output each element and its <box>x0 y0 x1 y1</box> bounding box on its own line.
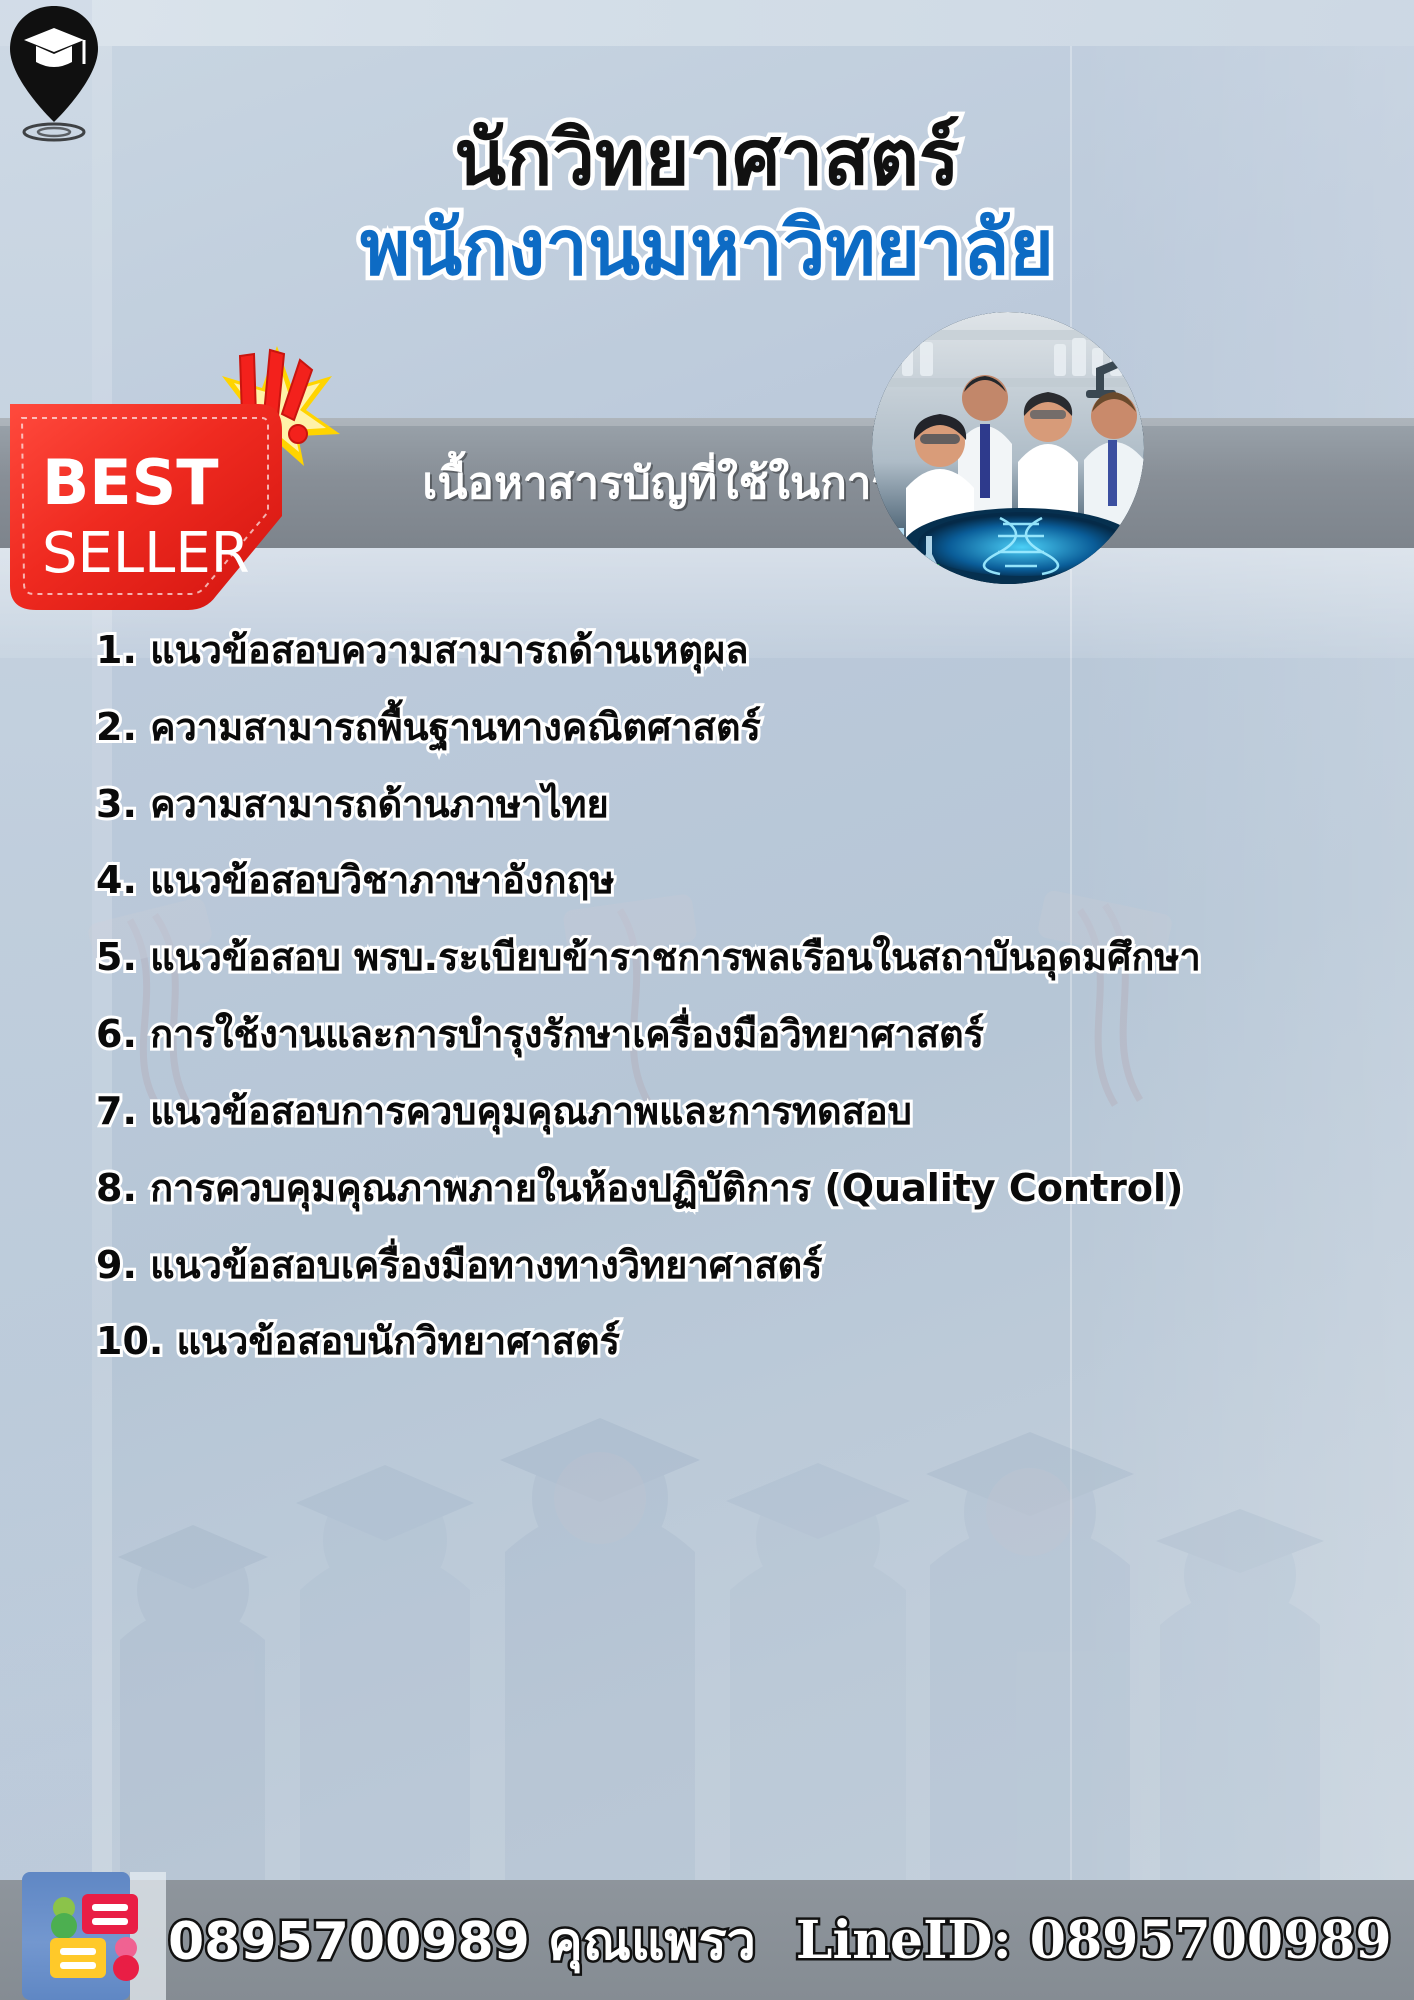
list-item: 7. แนวข้อสอบการควบคุมคุณภาพและการทดสอบ <box>96 1089 1346 1134</box>
science-lab-photo <box>872 312 1144 584</box>
list-item: 9. แนวข้อสอบเครื่องมือทางทางวิทยาศาสตร์ <box>96 1243 1346 1288</box>
list-item: 1. แนวข้อสอบความสามารถด้านเหตุผล <box>96 628 1346 673</box>
background-top-strip <box>0 0 1414 46</box>
footer-contact: 0895700989 คุณแพรว LineID: 0895700989 <box>0 1880 1414 2000</box>
poster-title-block: นักวิทยาศาสตร์ พนักงานมหาวิทยาลัย <box>0 118 1414 288</box>
list-item: 4. แนวข้อสอบวิชาภาษาอังกฤษ <box>96 858 1346 903</box>
title-line-2: พนักงานมหาวิทยาลัย <box>0 208 1414 288</box>
poster-root: นักวิทยาศาสตร์ พนักงานมหาวิทยาลัย เนื้อห… <box>0 0 1414 2000</box>
list-item: 8. การควบคุมคุณภาพภายในห้องปฏิบัติการ (Q… <box>96 1166 1346 1211</box>
footer-line-id: LineID: 0895700989 <box>796 1910 1392 1971</box>
badge-line-1: BEST <box>42 446 219 519</box>
list-item: 2. ความสามารถพื้นฐานทางคณิตศาสตร์ <box>96 705 1346 750</box>
list-item: 3. ความสามารถด้านภาษาไทย <box>96 782 1346 827</box>
badge-line-2: SELLER <box>42 521 250 586</box>
footer-phone: 0895700989 คุณแพรว <box>168 1899 756 1982</box>
best-seller-badge: BEST SELLER <box>10 396 300 618</box>
list-item: 6. การใช้งานและการบำรุงรักษาเครื่องมือวิ… <box>96 1012 1346 1057</box>
topic-list: 1. แนวข้อสอบความสามารถด้านเหตุผล 2. ความ… <box>96 628 1346 1396</box>
list-item: 10. แนวข้อสอบนักวิทยาศาสตร์ <box>96 1319 1346 1364</box>
title-line-1: นักวิทยาศาสตร์ <box>0 118 1414 198</box>
list-item: 5. แนวข้อสอบ พรบ.ระเบียบข้าราชการพลเรือน… <box>96 935 1346 980</box>
